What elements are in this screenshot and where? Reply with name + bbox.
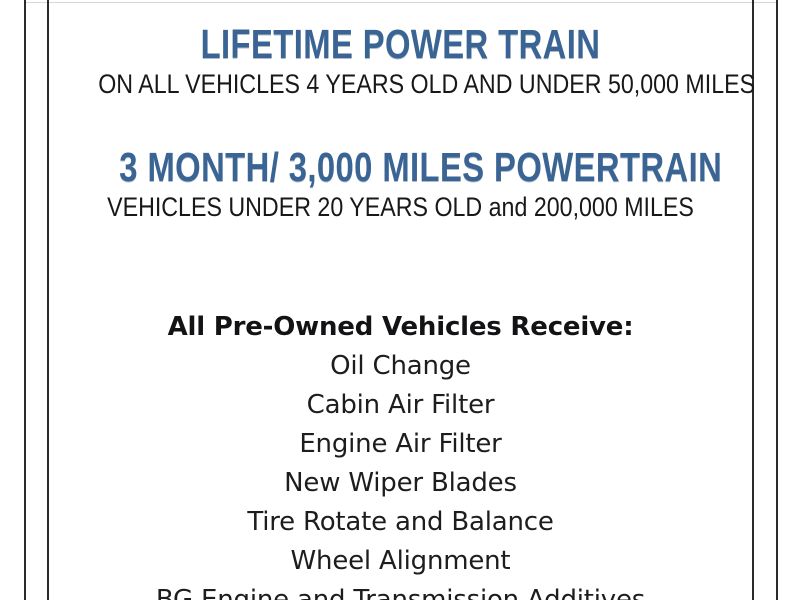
frame-rule-left-outer bbox=[24, 0, 26, 600]
warranty-title-lifetime: LIFETIME POWER TRAIN bbox=[119, 22, 681, 66]
service-item: Cabin Air Filter bbox=[49, 386, 752, 425]
service-item: Tire Rotate and Balance bbox=[49, 503, 752, 542]
services-section: All Pre-Owned Vehicles Receive: Oil Chan… bbox=[49, 308, 752, 600]
warranty-block-lifetime: LIFETIME POWER TRAIN ON ALL VEHICLES 4 Y… bbox=[49, 0, 752, 99]
service-item: BG Engine and Transmission Additives bbox=[49, 581, 752, 600]
warranty-subtitle-three-month: VEHICLES UNDER 20 YEARS OLD and 200,000 … bbox=[98, 192, 703, 222]
warranty-subtitle-lifetime: ON ALL VEHICLES 4 YEARS OLD AND UNDER 50… bbox=[98, 69, 703, 99]
service-item: Engine Air Filter bbox=[49, 425, 752, 464]
service-item: New Wiper Blades bbox=[49, 464, 752, 503]
service-item: Oil Change bbox=[49, 347, 752, 386]
services-heading: All Pre-Owned Vehicles Receive: bbox=[49, 308, 752, 347]
flyer-content: LIFETIME POWER TRAIN ON ALL VEHICLES 4 Y… bbox=[49, 0, 752, 600]
warranty-block-three-month: 3 MONTH/ 3,000 MILES POWERTRAIN VEHICLES… bbox=[49, 99, 752, 222]
warranty-title-three-month: 3 MONTH/ 3,000 MILES POWERTRAIN bbox=[119, 145, 681, 189]
frame-rule-right-outer bbox=[776, 0, 778, 600]
promo-flyer: LIFETIME POWER TRAIN ON ALL VEHICLES 4 Y… bbox=[0, 0, 800, 600]
service-item: Wheel Alignment bbox=[49, 542, 752, 581]
